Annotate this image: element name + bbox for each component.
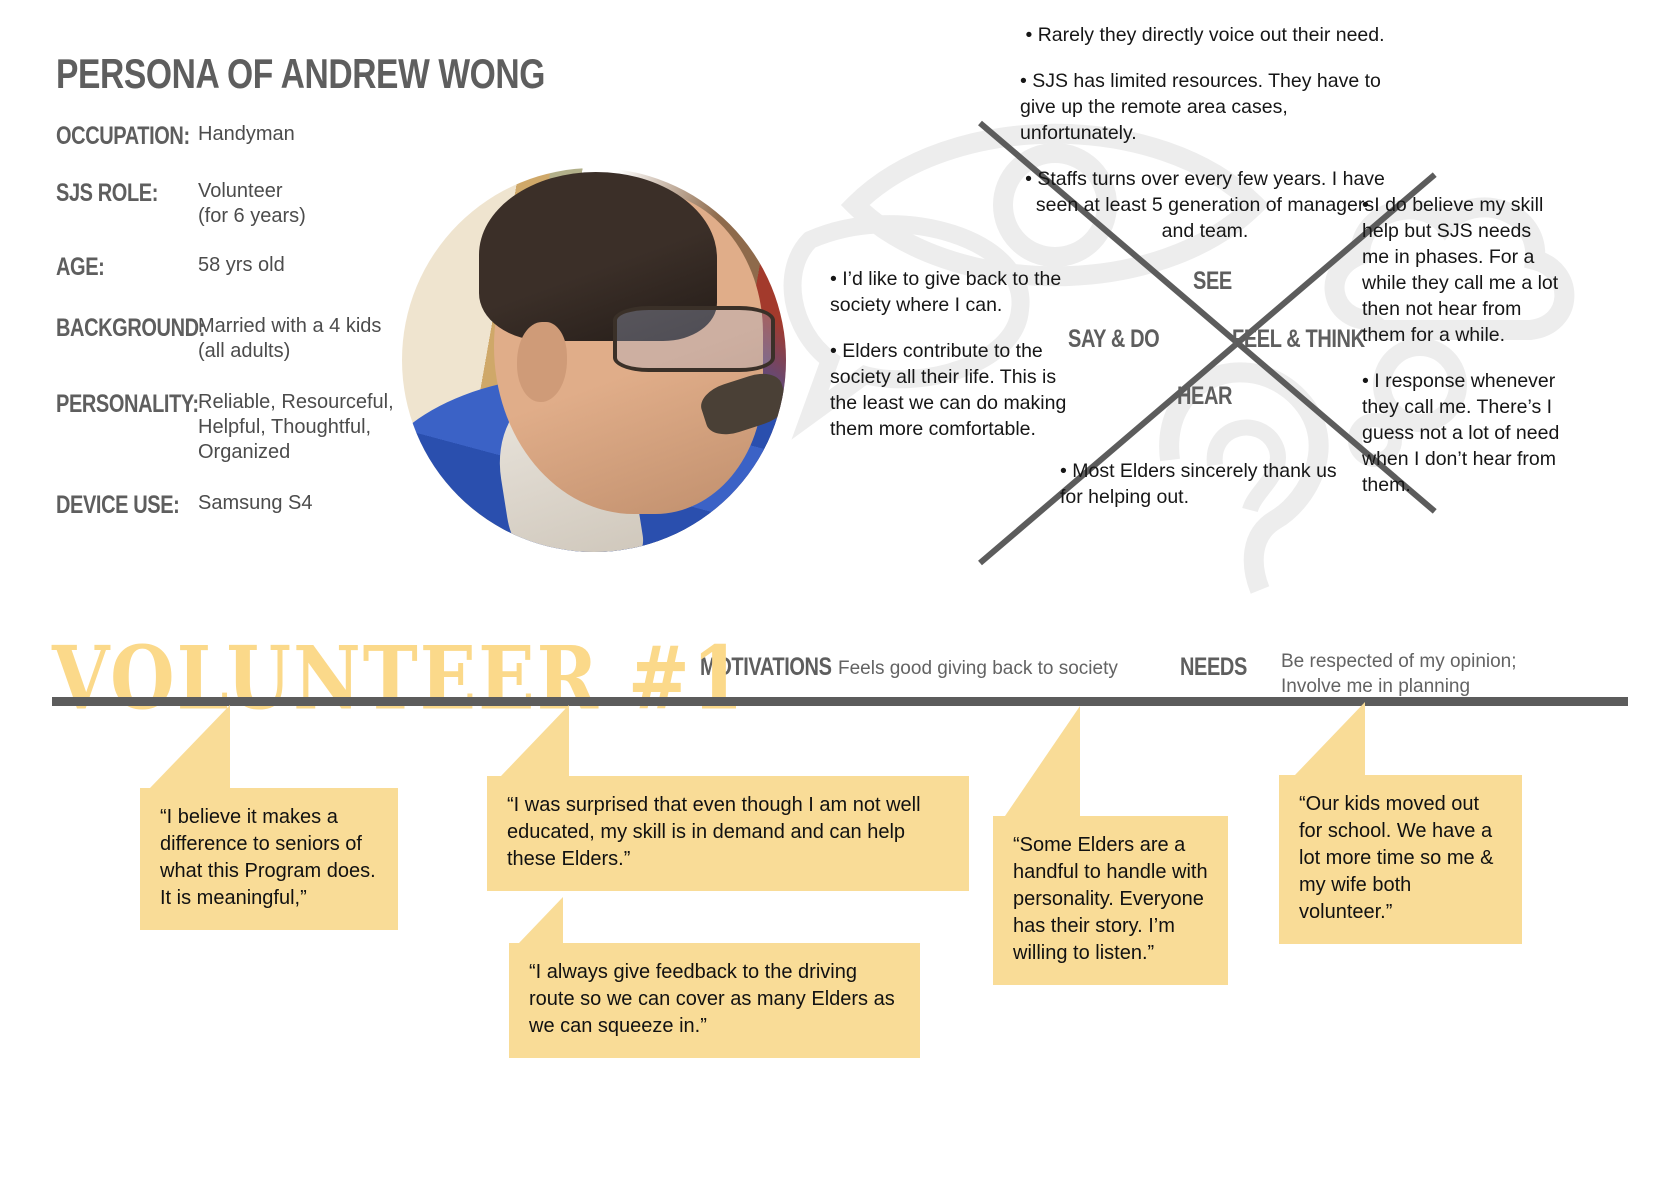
- attribute-label: BACKGROUND:: [56, 314, 205, 342]
- attribute-row-age: AGE: 58 yrs old: [56, 253, 456, 278]
- quote-callout: “Some Elders are a handful to handle wit…: [993, 816, 1228, 985]
- attribute-row-background: BACKGROUND: Married with a 4 kids(all ad…: [56, 314, 456, 364]
- persona-photo: [402, 168, 786, 552]
- empathy-item: • Most Elders sincerely thank us for hel…: [1060, 458, 1350, 510]
- empathy-feel-think-items: • I do believe my skill help but SJS nee…: [1362, 192, 1562, 498]
- callout-tail: [1295, 702, 1365, 775]
- quote-callout: “I believe it makes a difference to seni…: [140, 788, 398, 930]
- attribute-value: Handyman: [198, 122, 448, 147]
- empathy-item: • Elders contribute to the society all t…: [830, 338, 1070, 442]
- quadrant-label-see: SEE: [1193, 268, 1232, 294]
- empathy-item: • Rarely they directly voice out their n…: [1020, 22, 1390, 48]
- attribute-row-occupation: OCCUPATION: Handyman: [56, 122, 456, 147]
- empathy-hear-items: • Most Elders sincerely thank us for hel…: [1060, 458, 1350, 510]
- photo-glasses: [613, 306, 775, 372]
- attribute-label: DEVICE USE:: [56, 491, 179, 519]
- callout-tail: [1005, 706, 1080, 816]
- attribute-label: OCCUPATION:: [56, 122, 190, 150]
- attribute-row-sjs-role: SJS ROLE: Volunteer(for 6 years): [56, 179, 456, 229]
- empathy-see-items: • Rarely they directly voice out their n…: [1020, 22, 1390, 244]
- quote-callout: “Our kids moved out for school. We have …: [1279, 775, 1522, 944]
- quote-callout: “I was surprised that even though I am n…: [487, 776, 969, 891]
- attribute-label: PERSONALITY:: [56, 390, 199, 418]
- quadrant-label-hear: HEAR: [1177, 383, 1232, 409]
- persona-attribute-list: OCCUPATION: Handyman SJS ROLE: Volunteer…: [56, 122, 456, 538]
- quadrant-label-feel-think: FEEL & THINK: [1232, 326, 1365, 352]
- empathy-item: • I do believe my skill help but SJS nee…: [1362, 192, 1562, 348]
- empathy-item: • I’d like to give back to the society w…: [830, 266, 1070, 318]
- attribute-label: SJS ROLE:: [56, 179, 158, 207]
- needs-label: NEEDS: [1180, 654, 1247, 680]
- attribute-label: AGE:: [56, 253, 104, 281]
- quote-text: “Our kids moved out for school. We have …: [1299, 791, 1502, 926]
- empathy-item: • I response whenever they call me. Ther…: [1362, 368, 1562, 498]
- quote-text: “Some Elders are a handful to handle wit…: [1013, 832, 1208, 967]
- page-title: PERSONA OF ANDREW WONG: [56, 52, 545, 96]
- empathy-item: • Staffs turns over every few years. I h…: [1020, 166, 1390, 244]
- quote-text: “I always give feedback to the driving r…: [529, 959, 900, 1040]
- empathy-item: • SJS has limited resources. They have t…: [1020, 68, 1390, 146]
- callout-tail: [519, 897, 563, 943]
- quote-callout: “I always give feedback to the driving r…: [509, 943, 920, 1058]
- callout-tail: [150, 705, 230, 788]
- needs-value: Be respected of my opinion;Involve me in…: [1281, 649, 1561, 699]
- callout-tail: [501, 705, 569, 776]
- empathy-say-do-items: • I’d like to give back to the society w…: [830, 266, 1070, 442]
- motivations-value: Feels good giving back to society: [838, 656, 1168, 681]
- attribute-row-personality: PERSONALITY: Reliable, Resourceful,Helpf…: [56, 390, 456, 465]
- attribute-row-device-use: DEVICE USE: Samsung S4: [56, 491, 456, 516]
- divider: [52, 697, 1628, 706]
- quadrant-label-say-do: SAY & DO: [1068, 326, 1159, 352]
- quote-text: “I was surprised that even though I am n…: [507, 792, 949, 873]
- quote-text: “I believe it makes a difference to seni…: [160, 804, 378, 912]
